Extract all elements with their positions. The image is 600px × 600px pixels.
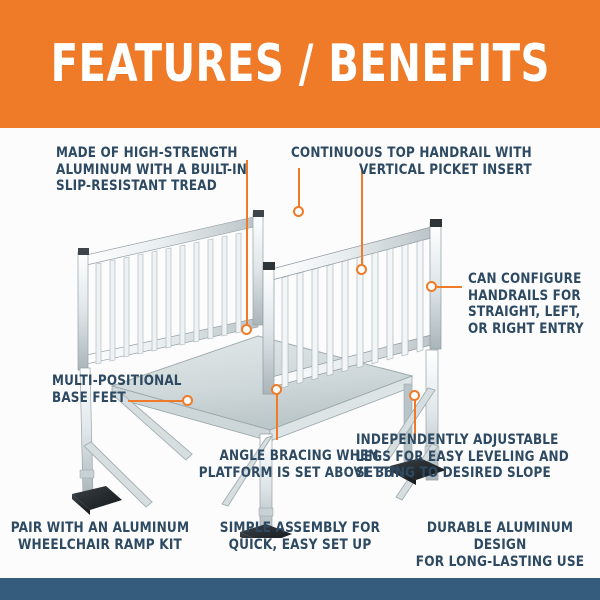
callout-marker-top-rail-left (293, 206, 304, 217)
callout-line: HANDRAILS FOR (468, 288, 584, 305)
callout-line: SLIP-RESISTANT TREAD (56, 178, 247, 195)
leader-line-bottom-left (276, 390, 278, 440)
footer-benefits-row: PAIR WITH AN ALUMINUM WHEELCHAIR RAMP KI… (0, 520, 600, 578)
callout-line: INDEPENDENTLY ADJUSTABLE (356, 432, 569, 449)
callout-marker-right-post (426, 281, 437, 292)
callout-line: MADE OF HIGH-STRENGTH (56, 145, 247, 162)
callout-line: STRAIGHT, LEFT, (468, 304, 584, 321)
footer-item-durable-design: DURABLE ALUMINUM DESIGN FOR LONG-LASTING… (400, 520, 600, 571)
footer-item-pair-with-ramp-kit: PAIR WITH AN ALUMINUM WHEELCHAIR RAMP KI… (0, 520, 200, 554)
callout-marker-base-foot (182, 395, 193, 406)
callout-line: SETTING TO DESIRED SLOPE (356, 465, 569, 482)
callout-marker-adjustable-leg (409, 390, 420, 401)
callout-line: CAN CONFIGURE (468, 271, 584, 288)
page-title: FEATURES / BENEFITS (50, 34, 549, 94)
callout-line: OR RIGHT ENTRY (468, 321, 584, 338)
callout-marker-deck (241, 324, 252, 335)
footer-line: QUICK, EASY SET UP (207, 537, 393, 554)
header-banner: FEATURES / BENEFITS (0, 0, 600, 128)
callout-marker-angle-brace (271, 384, 282, 395)
leader-line-mid-right (434, 286, 462, 288)
callout-independently-adjustable-legs: INDEPENDENTLY ADJUSTABLE LEGS FOR EASY L… (356, 432, 569, 482)
callout-continuous-top-handrail: CONTINUOUS TOP HANDRAIL WITH VERTICAL PI… (291, 145, 532, 178)
footer-line: WHEELCHAIR RAMP KIT (7, 537, 193, 554)
callout-line: LEGS FOR EASY LEVELING AND (356, 449, 569, 466)
footer-line: FOR LONG-LASTING USE (407, 554, 593, 571)
callout-line: ALUMINUM WITH A BUILT-IN (56, 162, 247, 179)
leader-line-top-right-b (361, 168, 363, 268)
footer-line: DURABLE ALUMINUM DESIGN (407, 520, 593, 554)
callout-line: BASE FEET (52, 390, 182, 407)
callout-line: CONTINUOUS TOP HANDRAIL WITH (291, 145, 532, 162)
footer-line: SIMPLE ASSEMBLY FOR (207, 520, 393, 537)
footer-item-simple-assembly: SIMPLE ASSEMBLY FOR QUICK, EASY SET UP (200, 520, 400, 554)
callout-multi-positional-base-feet: MULTI-POSITIONAL BASE FEET (52, 373, 182, 406)
footer-line: PAIR WITH AN ALUMINUM (7, 520, 193, 537)
callout-can-configure-handrails: CAN CONFIGURE HANDRAILS FOR STRAIGHT, LE… (468, 271, 584, 337)
callout-marker-picket (356, 264, 367, 275)
infographic-page: FEATURES / BENEFITS (0, 0, 600, 600)
callout-line: MULTI-POSITIONAL (52, 373, 182, 390)
bottom-accent-bar (0, 578, 600, 600)
callout-line: VERTICAL PICKET INSERT (291, 162, 532, 179)
callout-made-of-high-strength-aluminum: MADE OF HIGH-STRENGTH ALUMINUM WITH A BU… (56, 145, 247, 195)
